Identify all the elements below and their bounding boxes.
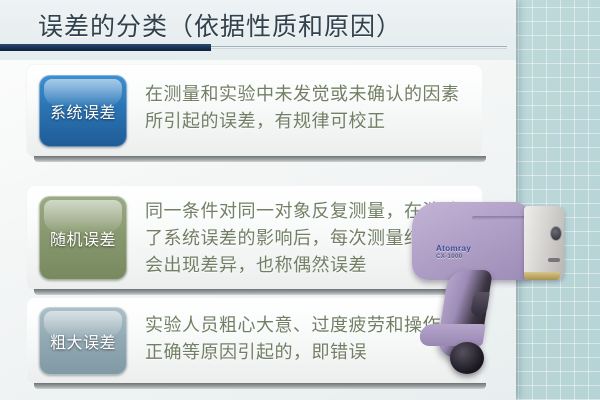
device-emitter-strip	[524, 272, 560, 280]
title-divider-thick	[0, 44, 211, 51]
device-vent	[472, 216, 528, 220]
device-trigger	[470, 292, 490, 316]
device-head	[524, 206, 564, 280]
tag-random-error[interactable]: 随机误差	[39, 196, 127, 280]
description-systematic-error: 在测量和实验中未发觉或未确认的因素所引起的误差，有规律可校正	[145, 81, 474, 135]
device-knob	[450, 342, 484, 374]
title-divider	[0, 44, 516, 52]
device-brand-label: AtomrayCX-1000	[436, 244, 510, 262]
tag-systematic-error[interactable]: 系统误差	[39, 75, 127, 147]
error-type-row-systematic: 系统误差 在测量和实验中未发觉或未确认的因素所引起的误差，有规律可校正	[26, 64, 483, 158]
handheld-laser-device-image: AtomrayCX-1000	[398, 196, 588, 386]
device-lens	[550, 226, 562, 241]
device-foot	[418, 324, 485, 346]
tag-gross-error[interactable]: 粗大误差	[39, 307, 127, 375]
row-shadow-systematic	[34, 156, 486, 162]
device-body: AtomrayCX-1000	[412, 202, 530, 280]
presentation-slide: 误差的分类（依据性质和原因） 系统误差 在测量和实验中未发觉或未确认的因素所引起…	[0, 0, 600, 400]
device-port	[548, 258, 560, 262]
page-title: 误差的分类（依据性质和原因）	[38, 7, 402, 43]
